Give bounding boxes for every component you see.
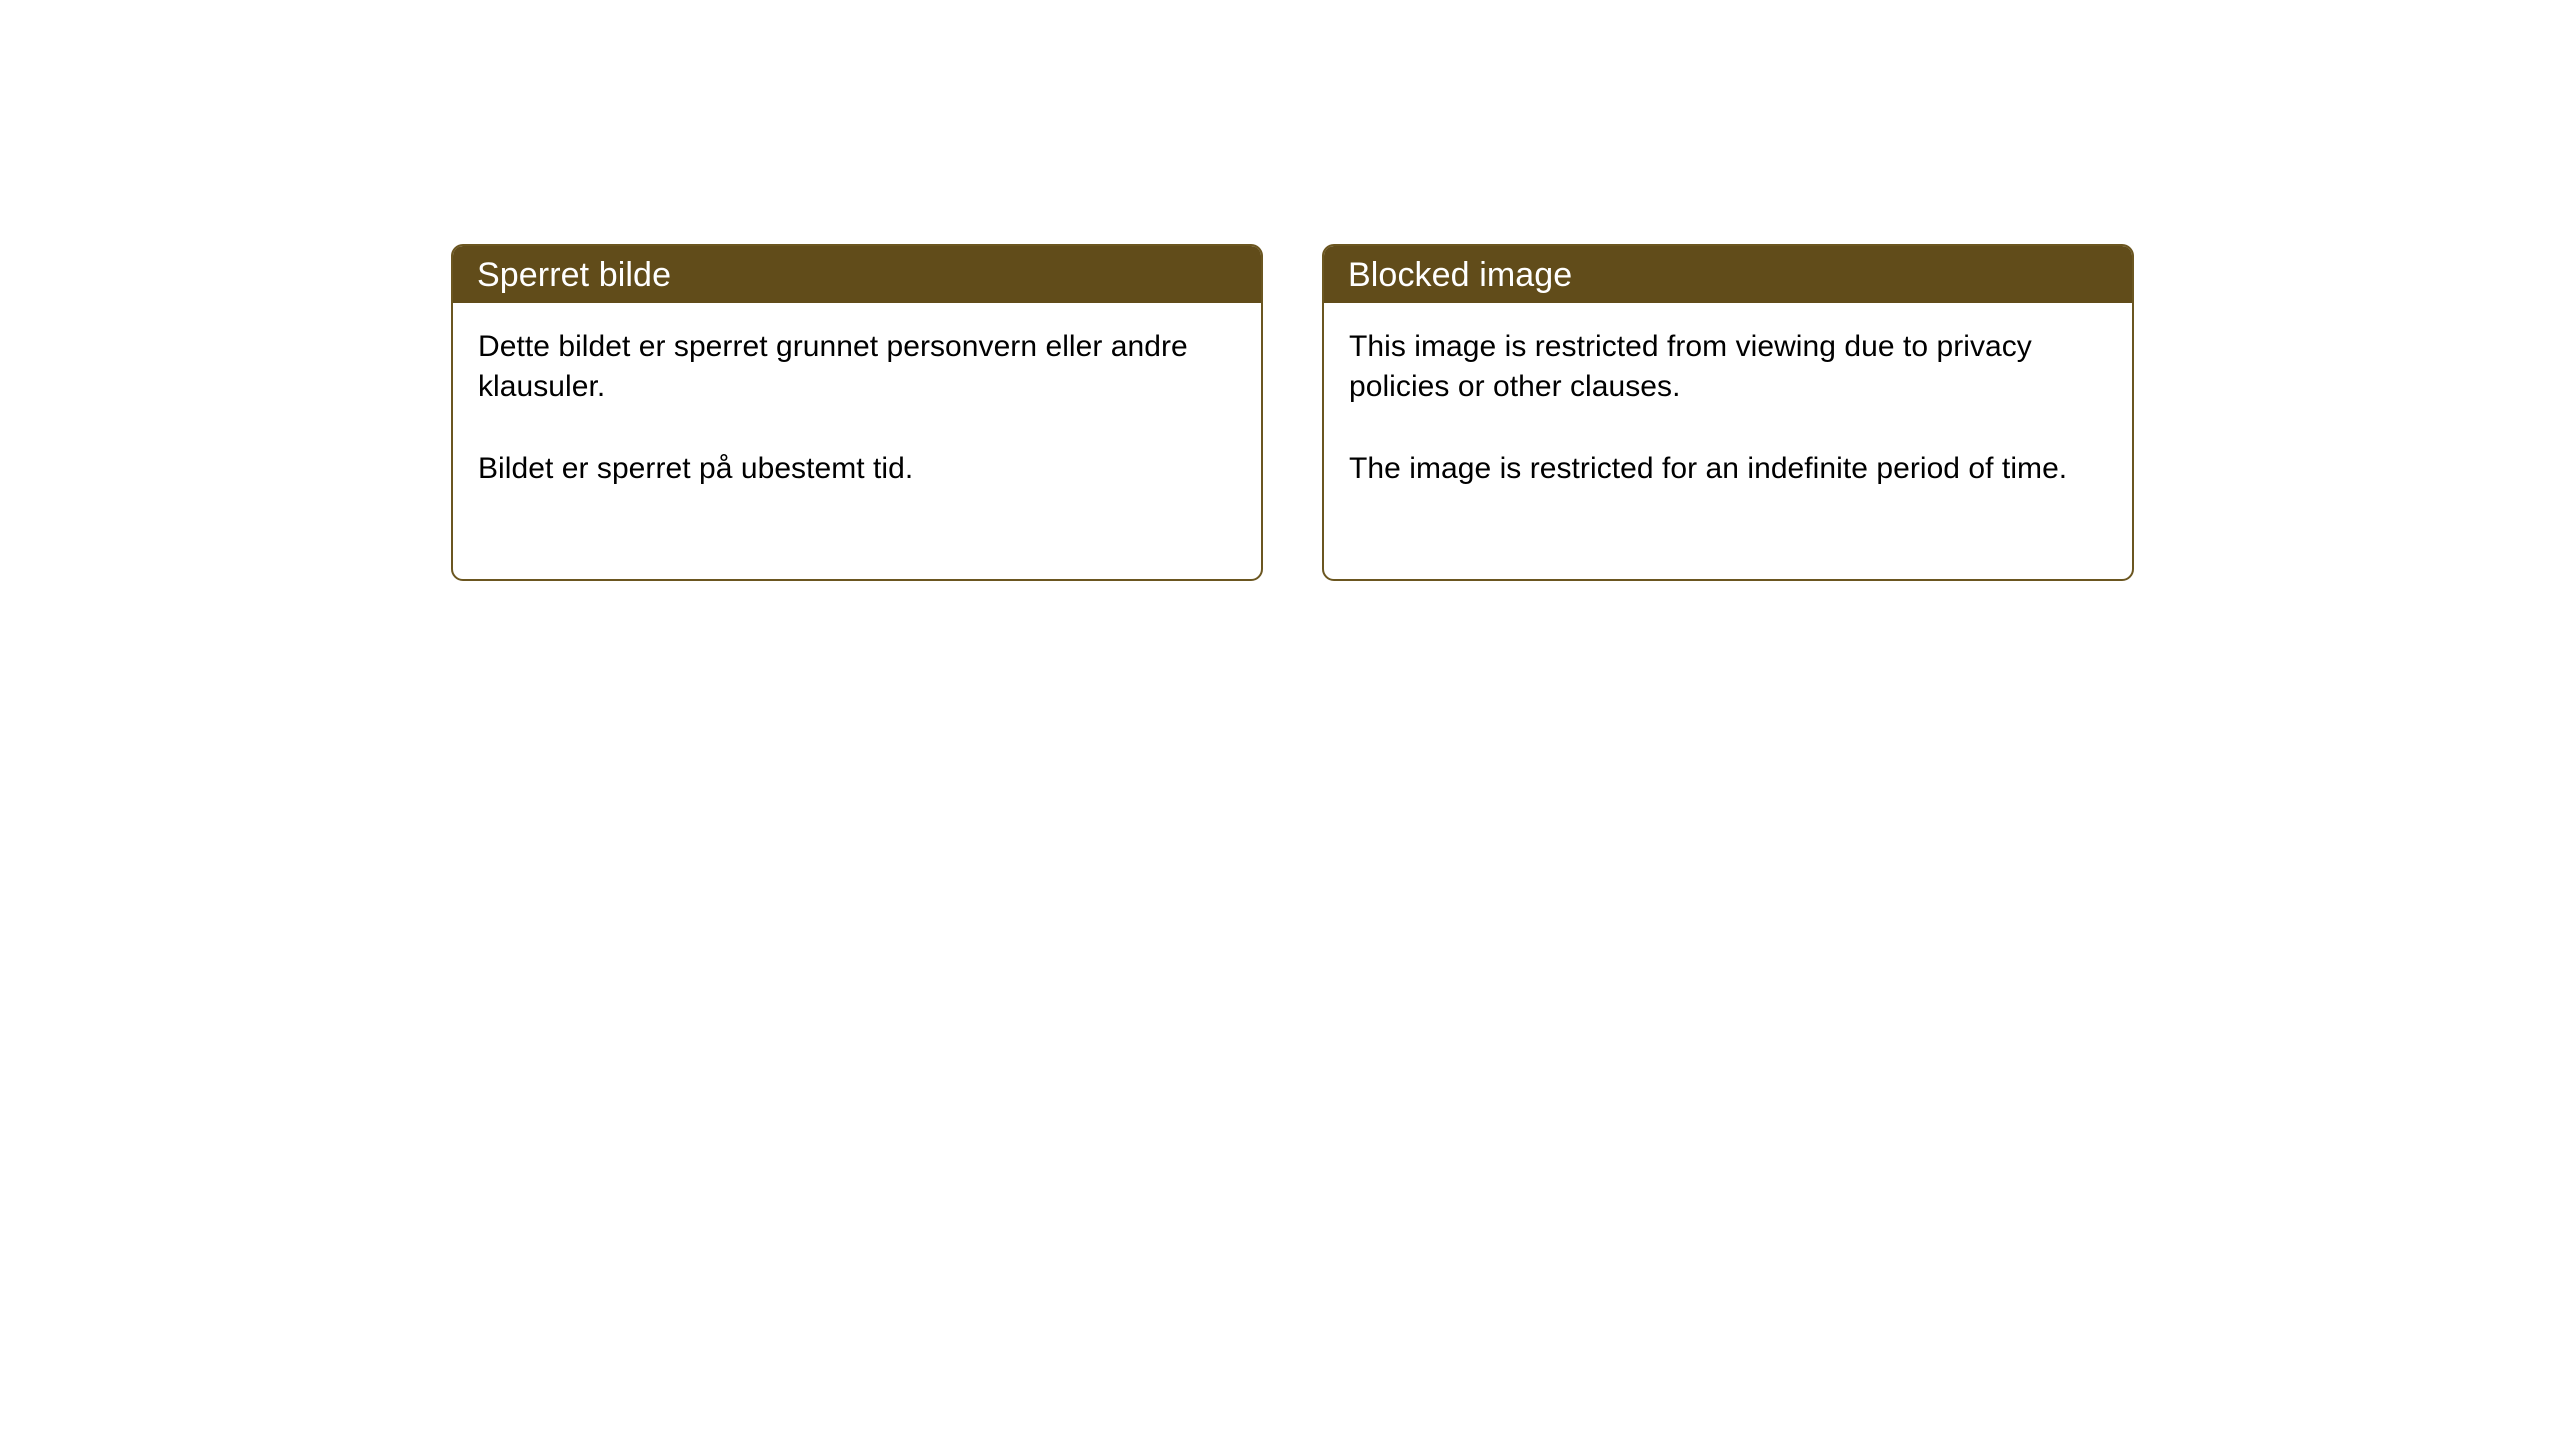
blocked-image-notice-card-english: Blocked image This image is restricted f… [1322,244,2134,581]
card-body-norwegian: Dette bildet er sperret grunnet personve… [453,303,1261,489]
blocked-image-notice-card-norwegian: Sperret bilde Dette bildet er sperret gr… [451,244,1263,581]
card-paragraph-primary-norwegian: Dette bildet er sperret grunnet personve… [478,327,1233,407]
card-title-norwegian: Sperret bilde [477,258,671,292]
card-header-english: Blocked image [1324,246,2132,303]
card-header-norwegian: Sperret bilde [453,246,1261,303]
card-title-english: Blocked image [1348,258,1572,292]
card-paragraph-primary-english: This image is restricted from viewing du… [1349,327,2104,407]
card-paragraph-secondary-norwegian: Bildet er sperret på ubestemt tid. [478,449,1233,489]
paragraph-spacer-english [1349,407,2104,449]
card-body-english: This image is restricted from viewing du… [1324,303,2132,489]
page-root: Sperret bilde Dette bildet er sperret gr… [0,0,2560,1440]
card-paragraph-secondary-english: The image is restricted for an indefinit… [1349,449,2104,489]
paragraph-spacer-norwegian [478,407,1233,449]
